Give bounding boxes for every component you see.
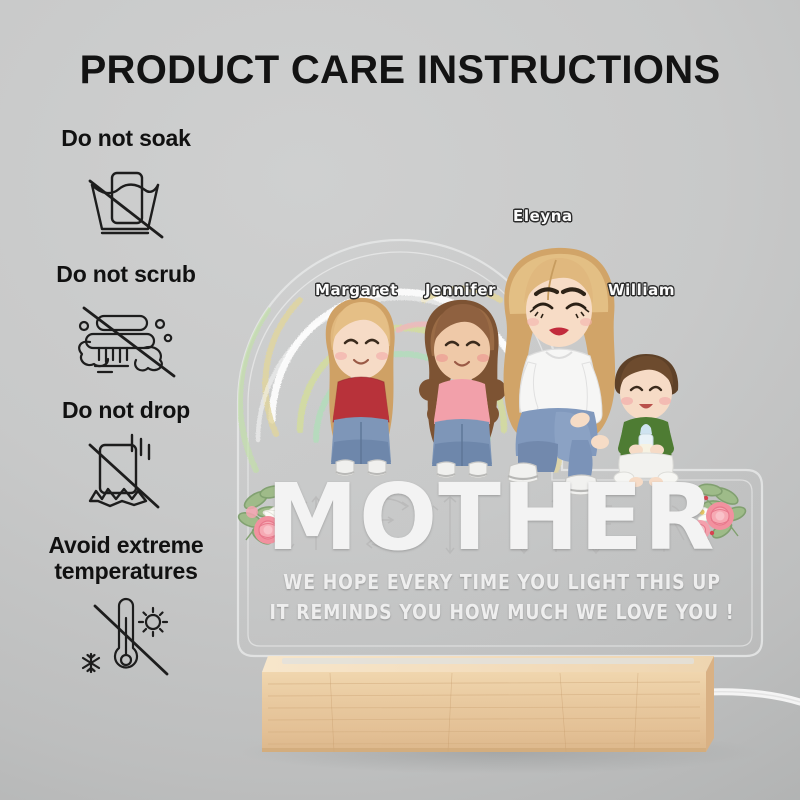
message-line-2: IT REMINDS YOU HOW MUCH WE LOVE YOU ! xyxy=(261,598,742,628)
family-name-eleyna: Eleyna xyxy=(513,207,573,225)
family-name-jennifer: Jennifer xyxy=(425,281,496,299)
mother-headline: MOTHER xyxy=(256,474,726,561)
product-care-instructions-page: PRODUCT CARE INSTRUCTIONS Do not soak xyxy=(0,0,800,800)
love-message: WE HOPE EVERY TIME YOU LIGHT THIS UP IT … xyxy=(261,568,742,627)
family-name-margaret: Margaret xyxy=(315,281,398,299)
character-margaret xyxy=(326,298,395,476)
family-name-william: William xyxy=(608,281,675,299)
wood-base xyxy=(262,656,800,752)
acrylic-plaque xyxy=(0,0,800,800)
message-line-1: WE HOPE EVERY TIME YOU LIGHT THIS UP xyxy=(261,568,742,598)
character-eleyna xyxy=(504,248,616,495)
